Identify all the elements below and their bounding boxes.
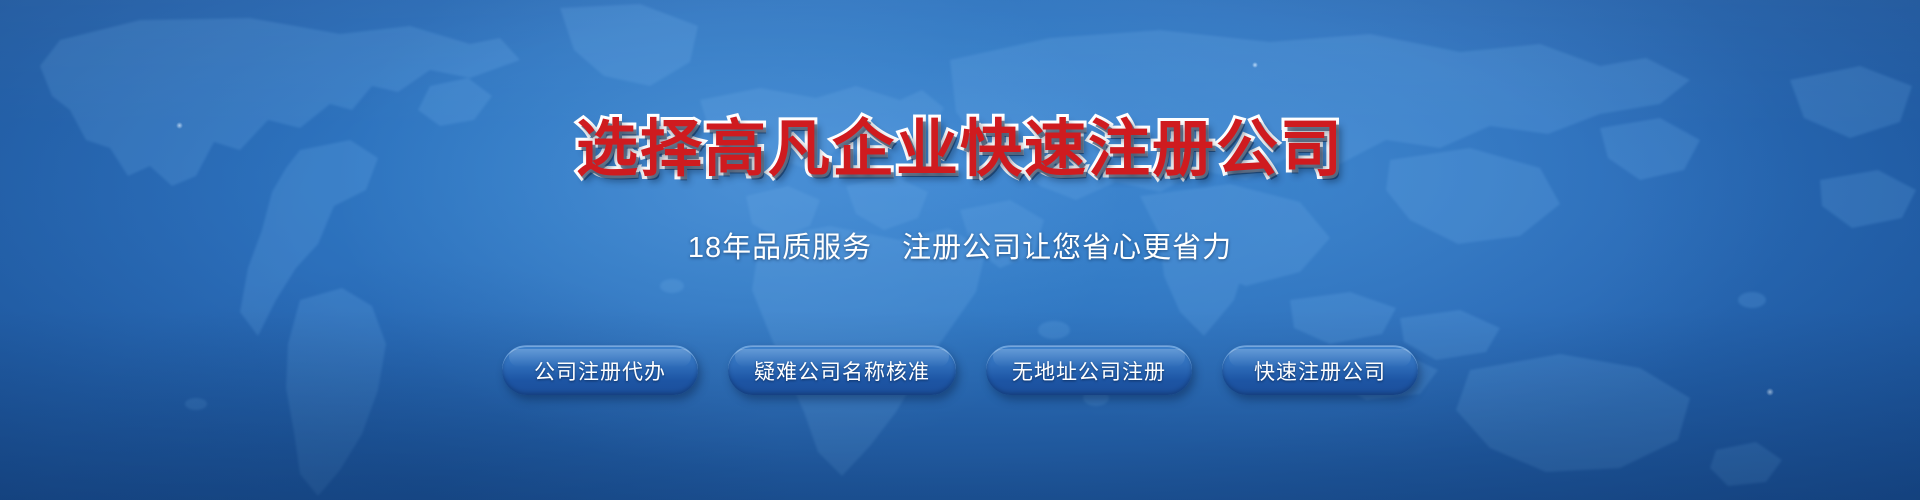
banner-content: 选择高凡企业快速注册公司 18年品质服务 注册公司让您省心更省力 公司注册代办 … bbox=[0, 0, 1920, 500]
service-pill-label: 公司注册代办 bbox=[534, 356, 666, 386]
service-pill-label: 无地址公司注册 bbox=[1012, 356, 1166, 386]
promo-banner: 选择高凡企业快速注册公司 18年品质服务 注册公司让您省心更省力 公司注册代办 … bbox=[0, 0, 1920, 500]
banner-subheadline: 18年品质服务 注册公司让您省心更省力 bbox=[0, 228, 1920, 268]
service-pill-fast-registration[interactable]: 快速注册公司 bbox=[1222, 345, 1418, 395]
service-pill-difficult-name-approval[interactable]: 疑难公司名称核准 bbox=[728, 345, 956, 395]
service-pill-company-registration-agency[interactable]: 公司注册代办 bbox=[502, 345, 698, 395]
service-pill-label: 快速注册公司 bbox=[1254, 356, 1386, 386]
service-pill-row: 公司注册代办 疑难公司名称核准 无地址公司注册 快速注册公司 bbox=[0, 345, 1920, 395]
banner-headline: 选择高凡企业快速注册公司 bbox=[0, 118, 1920, 180]
service-pill-no-address-registration[interactable]: 无地址公司注册 bbox=[986, 345, 1192, 395]
service-pill-label: 疑难公司名称核准 bbox=[754, 356, 930, 386]
